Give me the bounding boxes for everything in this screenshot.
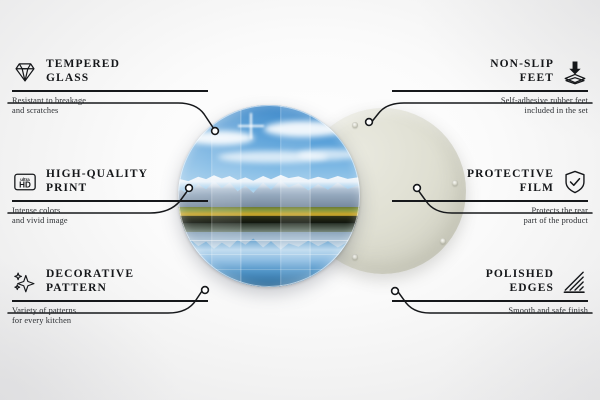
feature-header: PROTECTIVE FILM [392, 168, 588, 195]
feature-rule [392, 200, 588, 202]
feature-header: NON-SLIP FEET [392, 58, 588, 85]
feature-title: HIGH-QUALITY PRINT [46, 168, 148, 195]
feature-description: Intense colors and vivid image [12, 206, 208, 227]
feature-rule [12, 300, 208, 302]
feature-header: POLISHED EDGES [392, 268, 588, 295]
feature-title: TEMPERED GLASS [46, 58, 120, 85]
ultra-hd-icon: ultra HD [12, 169, 38, 195]
feature-description: Self-adhesive rubber feet included in th… [392, 96, 588, 117]
feature-rule [12, 90, 208, 92]
feature-high-quality-print: ultra HD HIGH-QUALITY PRINT Intense colo… [12, 168, 208, 227]
feature-title: NON-SLIP FEET [490, 58, 554, 85]
feature-non-slip-feet: NON-SLIP FEET Self-adhesive rubber feet … [392, 58, 588, 117]
feature-tempered-glass: TEMPERED GLASS Resistant to breakage and… [12, 58, 208, 117]
connector-dot-non-slip-feet [366, 119, 373, 126]
feature-header: TEMPERED GLASS [12, 58, 208, 85]
feature-description: Protects the rear part of the product [392, 206, 588, 227]
svg-text:HD: HD [19, 180, 31, 189]
sparkle-icon [12, 269, 38, 295]
diamond-icon [12, 59, 38, 85]
feature-rule [392, 90, 588, 92]
feature-description: Variety of patterns for every kitchen [12, 306, 208, 327]
arrow-down-pad-icon [562, 59, 588, 85]
feature-header: DECORATIVE PATTERN [12, 268, 208, 295]
feature-decorative-pattern: DECORATIVE PATTERN Variety of patterns f… [12, 268, 208, 327]
feature-title: POLISHED EDGES [486, 268, 554, 295]
connector-dot-tempered-glass [212, 128, 219, 135]
feature-description: Smooth and safe finish [392, 306, 588, 317]
infographic-canvas: TEMPERED GLASS Resistant to breakage and… [0, 0, 600, 400]
feature-title: DECORATIVE PATTERN [46, 268, 134, 295]
diagonal-hatch-icon [562, 269, 588, 295]
feature-protective-film: PROTECTIVE FILM Protects the rear part o… [392, 168, 588, 227]
feature-rule [392, 300, 588, 302]
feature-title: PROTECTIVE FILM [467, 168, 554, 195]
shield-check-icon [562, 169, 588, 195]
feature-polished-edges: POLISHED EDGES Smooth and safe finish [392, 268, 588, 316]
feature-rule [12, 200, 208, 202]
feature-header: ultra HD HIGH-QUALITY PRINT [12, 168, 208, 195]
feature-description: Resistant to breakage and scratches [12, 96, 208, 117]
